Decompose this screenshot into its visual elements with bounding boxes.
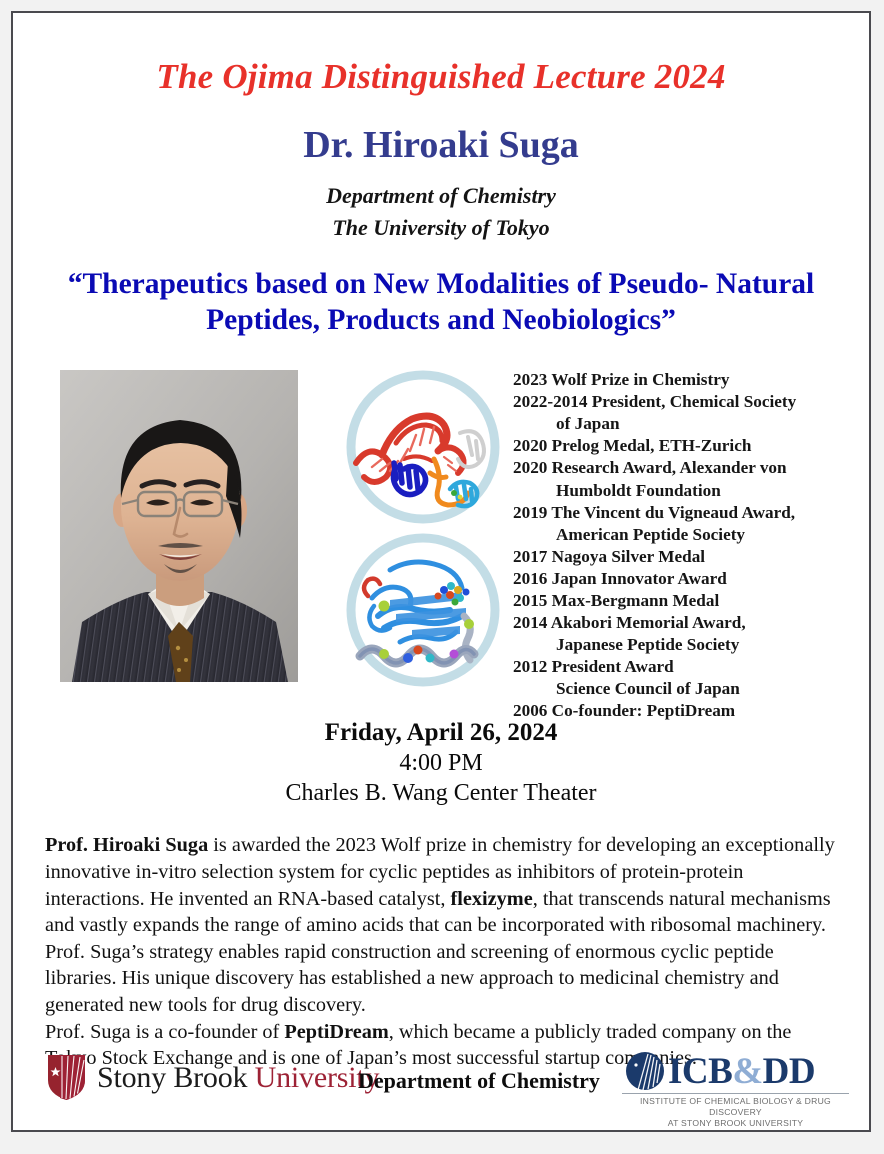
- bio-term-peptidream: PeptiDream: [284, 1021, 388, 1043]
- award-text: The Vincent du Vigneaud Award,: [551, 503, 795, 522]
- speaker-department: Department of Chemistry: [13, 180, 869, 212]
- event-details: Friday, April 26, 2024 4:00 PM Charles B…: [13, 717, 869, 809]
- stony-brook-wordmark: Stony Brook University: [97, 1061, 379, 1095]
- award-text: Research Award, Alexander von: [552, 458, 787, 477]
- bio-paragraph-1: Prof. Hiroaki Suga is awarded the 2023 W…: [45, 832, 839, 1018]
- awards-list: 2023 Wolf Prize in Chemistry 2022-2014 P…: [513, 369, 828, 723]
- speaker-name: Dr. Hiroaki Suga: [13, 125, 869, 167]
- icbdd-globe-icon: [624, 1050, 666, 1092]
- award-item: 2017 Nagoya Silver Medal: [513, 546, 828, 568]
- award-item: 2022-2014 President, Chemical Society of…: [513, 391, 828, 435]
- award-continuation: Japanese Peptide Society: [513, 634, 828, 656]
- speaker-institution: The University of Tokyo: [13, 212, 869, 244]
- protein-structure-graphic: [338, 530, 508, 690]
- protein-structure-image: [338, 530, 508, 690]
- award-continuation: Humboldt Foundation: [513, 480, 828, 502]
- event-time: 4:00 PM: [13, 748, 869, 778]
- award-year: 2023: [513, 370, 547, 389]
- portrait-image: [60, 370, 298, 682]
- award-year: 2016: [513, 569, 547, 588]
- bio-term-flexizyme: flexizyme: [451, 888, 533, 910]
- rna-structure-image: [338, 367, 508, 527]
- icbdd-text-icb: ICB: [668, 1051, 732, 1092]
- award-year: 2019: [513, 503, 547, 522]
- award-year: 2012: [513, 657, 547, 676]
- award-year: 2020: [513, 458, 547, 477]
- icbdd-text-dd: DD: [763, 1051, 815, 1092]
- award-text: Japan Innovator Award: [552, 569, 727, 588]
- icbdd-logo: ICB&DD INSTITUTE OF CHEMICAL BIOLOGY & D…: [618, 1050, 853, 1130]
- award-item: 2020 Prelog Medal, ETH-Zurich: [513, 435, 828, 457]
- award-item: 2012 President Award Science Council of …: [513, 656, 828, 700]
- event-venue: Charles B. Wang Center Theater: [13, 778, 869, 809]
- footer: Stony Brook University Department of Che…: [13, 1048, 869, 1122]
- award-year: 2006: [513, 701, 547, 720]
- sbu-word-stony-brook: Stony Brook: [97, 1061, 255, 1094]
- award-continuation: American Peptide Society: [513, 524, 828, 546]
- shield-icon: [47, 1054, 86, 1101]
- award-text: Prelog Medal, ETH-Zurich: [552, 436, 752, 455]
- speaker-bio: Prof. Hiroaki Suga is awarded the 2023 W…: [45, 832, 839, 1071]
- award-year: 2014: [513, 613, 547, 632]
- award-text: President Award: [552, 657, 674, 676]
- icbdd-divider: [622, 1093, 849, 1094]
- icbdd-subtitle-line-1: INSTITUTE OF CHEMICAL BIOLOGY & DRUG DIS…: [618, 1096, 853, 1118]
- award-item: 2019 The Vincent du Vigneaud Award, Amer…: [513, 502, 828, 546]
- award-item: 2023 Wolf Prize in Chemistry: [513, 369, 828, 391]
- award-continuation: Science Council of Japan: [513, 678, 828, 700]
- icbdd-text-ampersand: &: [732, 1051, 762, 1092]
- award-item: 2015 Max-Bergmann Medal: [513, 590, 828, 612]
- icbdd-wordmark: ICB&DD: [668, 1053, 815, 1090]
- page-title: The Ojima Distinguished Lecture 2024: [13, 58, 869, 97]
- award-text: President, Chemical Society: [592, 392, 796, 411]
- award-text: Nagoya Silver Medal: [552, 547, 705, 566]
- award-text: Co-founder: PeptiDream: [552, 701, 735, 720]
- stony-brook-university-logo: Stony Brook University: [47, 1054, 379, 1101]
- award-item: 2016 Japan Innovator Award: [513, 568, 828, 590]
- award-text: Wolf Prize in Chemistry: [551, 370, 729, 389]
- bio-lead-name: Prof. Hiroaki Suga: [45, 834, 208, 856]
- bio-p2-part1: Prof. Suga is a co-founder of: [45, 1021, 284, 1043]
- award-year: 2020: [513, 436, 547, 455]
- award-year: 2017: [513, 547, 547, 566]
- department-of-chemistry-label: Department of Chemistry: [358, 1068, 600, 1094]
- talk-title-line-1: “Therapeutics based on New Modalities of…: [68, 268, 709, 300]
- award-year: 2022-2014: [513, 392, 587, 411]
- award-text: Akabori Memorial Award,: [551, 613, 746, 632]
- award-item: 2006 Co-founder: PeptiDream: [513, 700, 828, 722]
- middle-band: 2023 Wolf Prize in Chemistry 2022-2014 P…: [13, 365, 869, 695]
- speaker-portrait: [60, 370, 298, 682]
- icbdd-wordmark-row: ICB&DD: [618, 1050, 853, 1092]
- award-item: 2020 Research Award, Alexander von Humbo…: [513, 457, 828, 501]
- poster-page: The Ojima Distinguished Lecture 2024 Dr.…: [11, 11, 871, 1132]
- science-graphics: [338, 365, 523, 695]
- icbdd-subtitle: INSTITUTE OF CHEMICAL BIOLOGY & DRUG DIS…: [618, 1096, 853, 1130]
- talk-title: “Therapeutics based on New Modalities of…: [41, 267, 841, 339]
- award-text: Max-Bergmann Medal: [552, 591, 720, 610]
- award-year: 2015: [513, 591, 547, 610]
- award-item: 2014 Akabori Memorial Award, Japanese Pe…: [513, 612, 828, 656]
- award-continuation: of Japan: [513, 413, 828, 435]
- icbdd-subtitle-line-2: AT STONY BROOK UNIVERSITY: [618, 1118, 853, 1129]
- rna-structure-graphic: [338, 367, 508, 527]
